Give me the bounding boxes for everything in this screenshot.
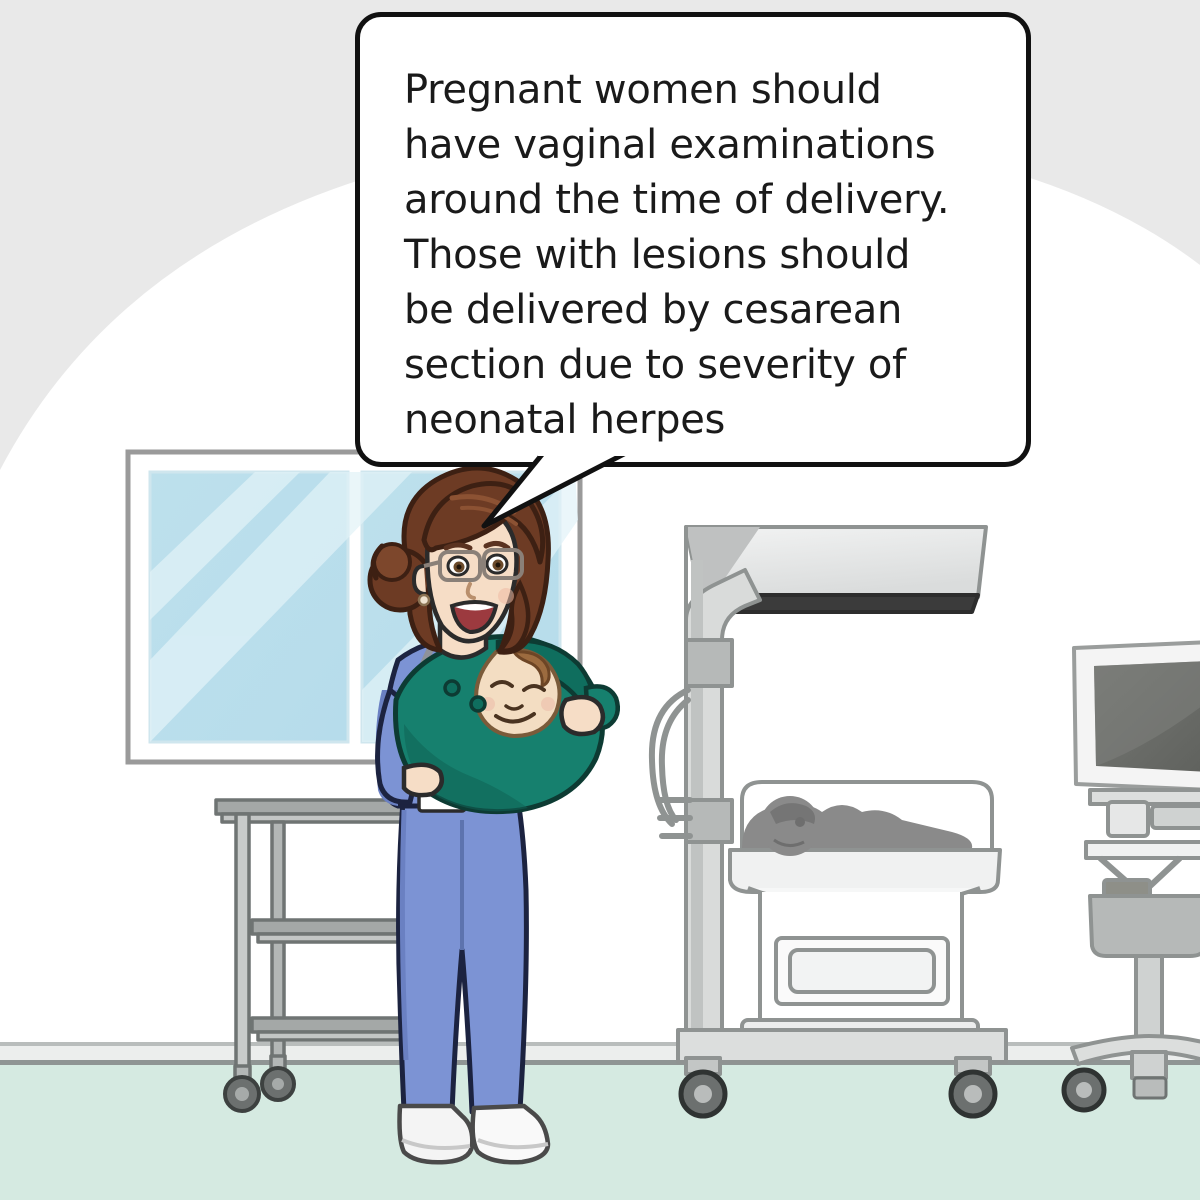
nurse-right-hand — [561, 697, 602, 734]
nurse-ear — [414, 566, 426, 594]
speech-bubble: Pregnant women should have vaginal exami… — [355, 12, 1031, 467]
baseboard-line-top — [0, 1042, 1200, 1046]
speech-bubble-tail — [478, 452, 628, 552]
nurse-earring — [419, 595, 429, 605]
floor — [0, 1062, 1200, 1200]
monitor-screen — [1074, 642, 1200, 790]
monitor-basket — [1090, 896, 1200, 956]
nurse-left-hand — [404, 765, 442, 795]
speech-bubble-text: Pregnant women should have vaginal exami… — [404, 63, 984, 448]
illustration-scene: Pregnant women should have vaginal exami… — [0, 0, 1200, 1200]
warmer-cabinet — [742, 892, 978, 1048]
baseboard-line-bottom — [0, 1060, 1200, 1065]
nurse-cheek-blush — [498, 588, 514, 604]
